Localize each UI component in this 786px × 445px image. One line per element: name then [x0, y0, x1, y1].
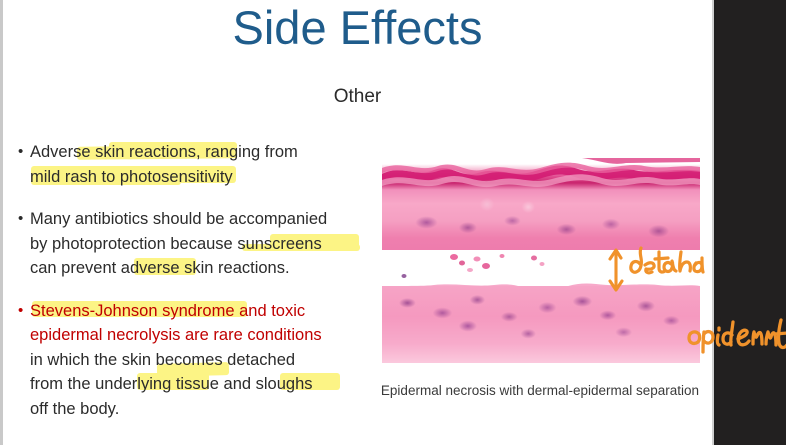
list-item-text: Many antibiotics should be accompaniedby… [30, 210, 327, 277]
presentation-slide: Side Effects Other • Adverse skin reacti… [0, 0, 714, 445]
list-item: • Many antibiotics should be accompanied… [17, 207, 375, 281]
page-title: Side Effects [3, 2, 712, 54]
bullet-marker: • [18, 299, 23, 324]
debris-specks [382, 250, 700, 280]
slide-viewer: Side Effects Other • Adverse skin reacti… [0, 0, 786, 445]
list-item-text-red: epidermal necrolysis are rare conditions [30, 326, 322, 344]
list-item: • Stevens-Johnson syndrome and toxicepid… [17, 299, 375, 422]
keratin-layer [382, 158, 700, 198]
bullet-marker: • [18, 140, 23, 165]
page-subtitle: Other [3, 85, 712, 109]
bullet-marker: • [18, 207, 23, 232]
viewer-dark-margin [716, 0, 786, 445]
list-item-text: Adverse skin reactions, ranging frommild… [30, 143, 298, 186]
list-item: • Adverse skin reactions, ranging frommi… [17, 140, 375, 189]
bullet-list: • Adverse skin reactions, ranging frommi… [17, 140, 375, 438]
figure-caption: Epidermal necrosis with dermal-epidermal… [375, 381, 705, 400]
list-item-text: Stevens-Johnson syndrome and toxicepider… [30, 302, 322, 418]
histology-figure [382, 158, 700, 363]
dermis-layer [382, 286, 700, 363]
